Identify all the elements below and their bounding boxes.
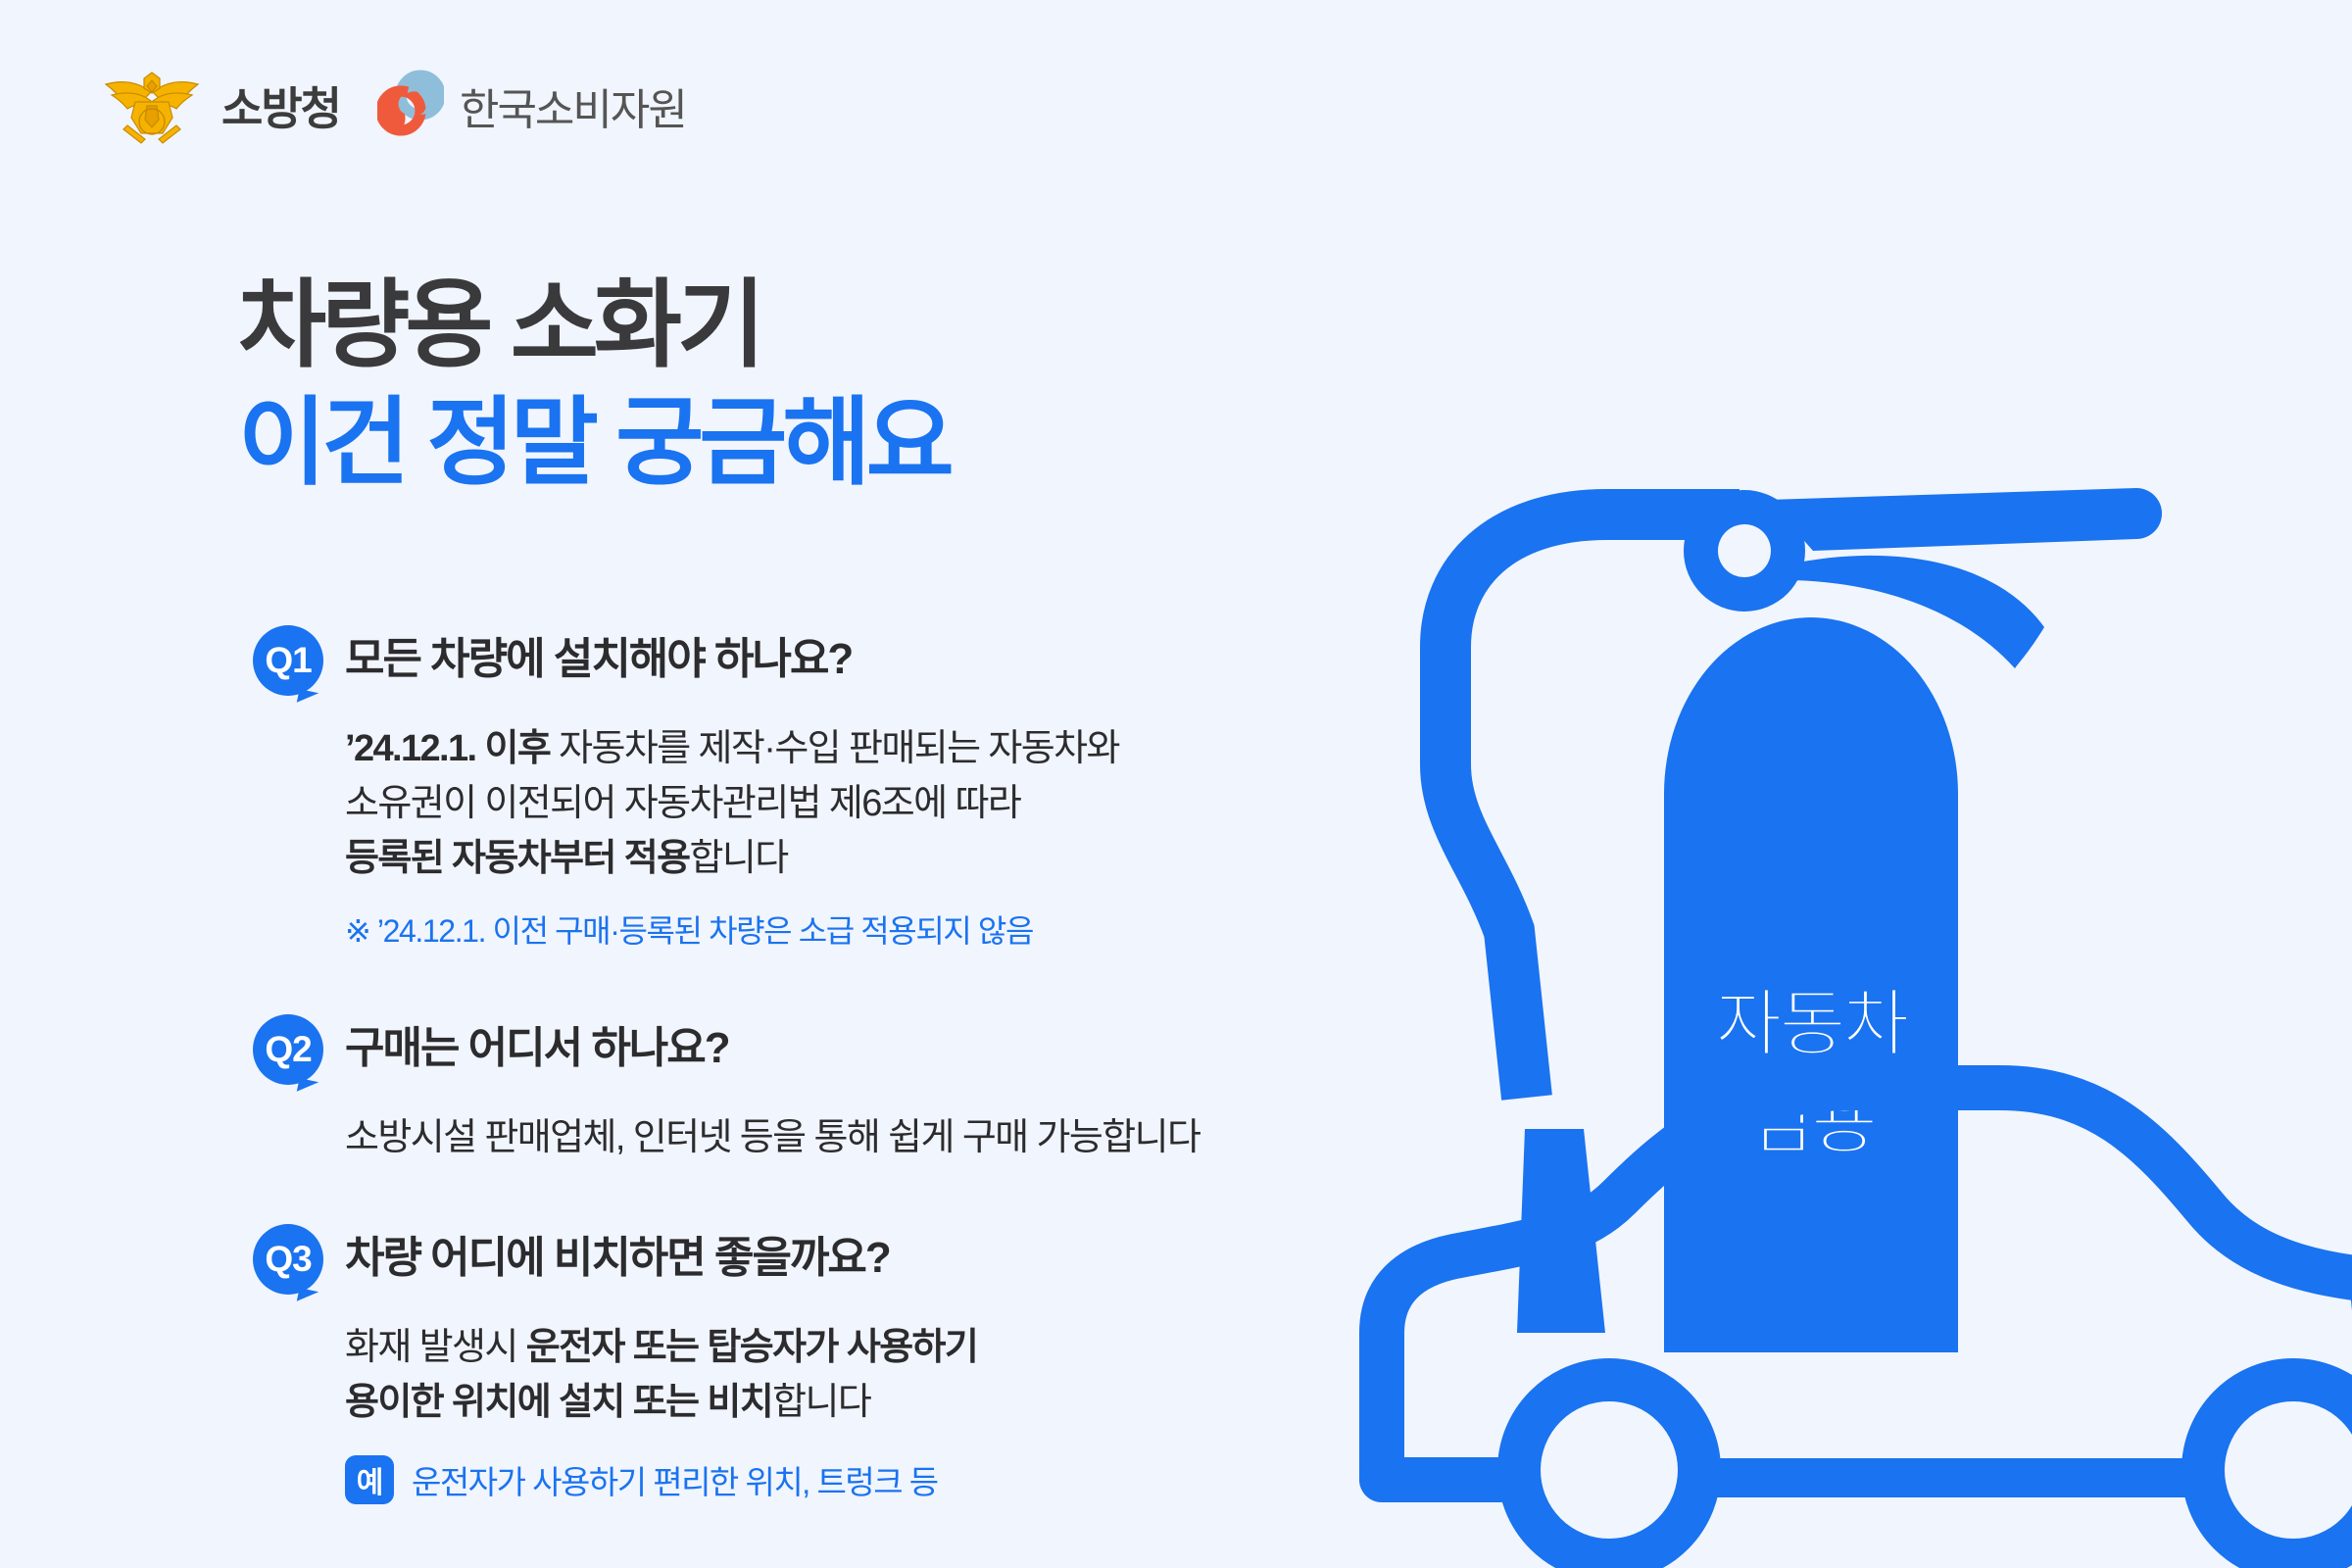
faq-answer: 화재 발생시 운전자 또는 탑승자가 사용하기용이한 위치에 설치 또는 비치합… [345,1320,1409,1504]
question-badge-q1: Q1 [253,625,323,696]
faq-item-q2: Q2구매는 어디서 하나요?소방시설 판매업체, 인터넷 등을 통해 쉽게 구매… [253,1016,1409,1165]
faq-answer: 소방시설 판매업체, 인터넷 등을 통해 쉽게 구매 가능합니다 [345,1110,1409,1165]
fire-agency-name: 소방청 [221,73,340,138]
answer-text: 화재 발생시 [345,1327,526,1368]
answer-line: 등록된 자동차부터 적용합니다 [345,831,1409,886]
car-fire-extinguisher-illustration: 자동차 겸용 [1352,470,2352,1568]
question-badge-q2: Q2 [253,1014,323,1085]
question-text: 구매는 어디서 하나요? [345,1016,729,1081]
answer-text: 소방시설 판매업체, 인터넷 등을 통해 쉽게 구매 가능합니다 [345,1117,1200,1158]
question-text: 차량 어디에 비치하면 좋을까요? [345,1226,890,1291]
kca-name: 한국소비자원 [460,74,686,137]
faq-list: Q1모든 차량에 설치해야 하나요?’24.12.1. 이후 자동차를 제작·수… [253,627,1409,1504]
faq-question-row: Q3차량 어디에 비치하면 좋을까요? [253,1226,1409,1295]
answer-line: ’24.12.1. 이후 자동차를 제작·수입 판매되는 자동차와 [345,721,1409,776]
kca-logo: 한국소비자원 [377,70,686,141]
example-row: 예운전자가 사용하기 편리한 위치, 트렁크 등 [345,1455,1409,1504]
poster-canvas: 소방청 한국소비자원 차량용 소화기 이건 정말 궁금해요 Q1모든 차량에 설… [0,0,2352,1568]
rear-wheel-icon [2203,1380,2352,1560]
answer-line: 용이한 위치에 설치 또는 비치합니다 [345,1375,1409,1430]
faq-question-row: Q1모든 차량에 설치해야 하나요? [253,627,1409,696]
answer-text: 자동차를 제작·수입 판매되는 자동차와 [559,728,1119,769]
agency-logo-bar: 소방청 한국소비자원 [98,61,686,150]
page-title: 차량용 소화기 이건 정말 궁금해요 [238,267,950,501]
answer-emphasis: 용이한 위치에 설치 또는 비치 [345,1382,772,1423]
example-text: 운전자가 사용하기 편리한 위치, 트렁크 등 [412,1456,938,1503]
answer-emphasis: ’24.12.1. 이후 [345,728,559,769]
answer-emphasis: 등록된 자동차부터 적용 [345,838,690,879]
extinguisher-label-line-1: 자동차 [1715,983,1909,1064]
example-badge: 예 [345,1455,394,1504]
question-text: 모든 차량에 설치해야 하나요? [345,627,852,692]
faq-answer: ’24.12.1. 이후 자동차를 제작·수입 판매되는 자동차와소유권이 이전… [345,721,1409,952]
question-badge-q3: Q3 [253,1224,323,1295]
title-line-1: 차량용 소화기 [238,267,950,384]
answer-text: 소유권이 이전되어 자동차관리법 제6조에 따라 [345,783,1020,824]
answer-note: ※ ’24.12.1. 이전 구매·등록된 차량은 소급 적용되지 않음 [345,906,1409,952]
faq-item-q1: Q1모든 차량에 설치해야 하나요?’24.12.1. 이후 자동차를 제작·수… [253,627,1409,952]
fire-agency-logo: 소방청 [98,61,340,150]
answer-line: 소유권이 이전되어 자동차관리법 제6조에 따라 [345,776,1409,831]
faq-item-q3: Q3차량 어디에 비치하면 좋을까요?화재 발생시 운전자 또는 탑승자가 사용… [253,1226,1409,1504]
answer-emphasis: 운전자 또는 탑승자가 사용하기 [526,1327,978,1368]
answer-line: 소방시설 판매업체, 인터넷 등을 통해 쉽게 구매 가능합니다 [345,1110,1409,1165]
front-wheel-icon [1519,1380,1699,1560]
fire-agency-eagle-emblem-icon [98,61,206,150]
kca-rings-logo-icon [377,70,444,141]
faq-question-row: Q2구매는 어디서 하나요? [253,1016,1409,1085]
answer-line: 화재 발생시 운전자 또는 탑승자가 사용하기 [345,1320,1409,1375]
title-line-2: 이건 정말 궁금해요 [238,384,950,502]
answer-text: 합니다 [690,838,788,879]
answer-text: 합니다 [772,1382,870,1423]
